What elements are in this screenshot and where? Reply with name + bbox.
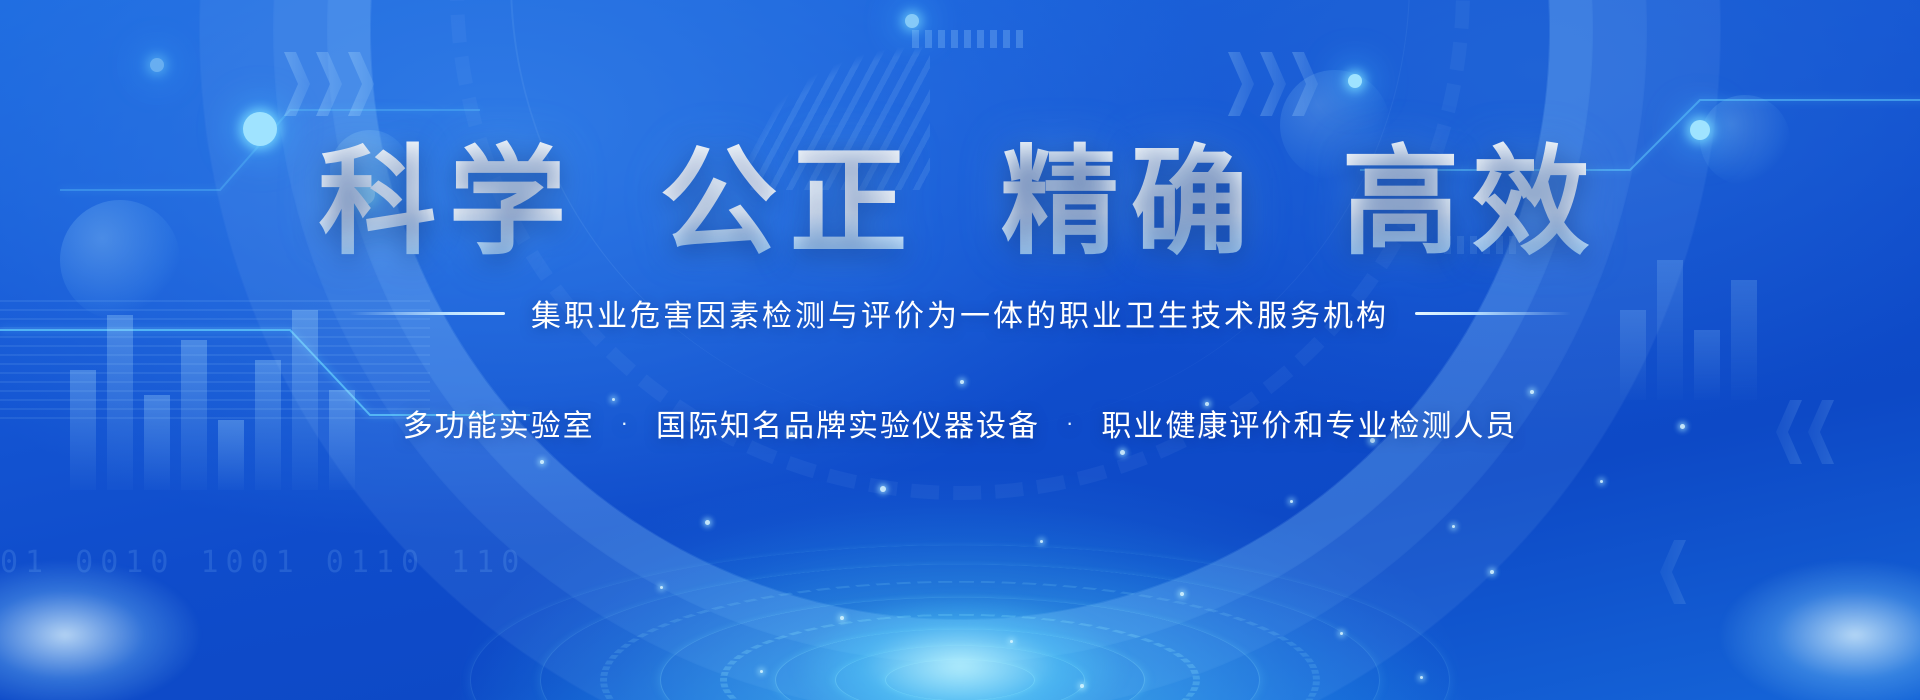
tagline-separator: ·	[1066, 410, 1075, 436]
hero-banner: 01 0010 1001 0110 1100	[0, 0, 1920, 700]
headline-word-1: 科学	[318, 140, 578, 265]
headline-word-2: 公正	[659, 140, 919, 265]
tagline-item-3: 职业健康评价和专业检测人员	[1101, 401, 1517, 445]
rule-left	[349, 312, 505, 315]
page-title: 科学 公正 精确 高效	[304, 140, 1615, 265]
headline-word-3: 精确	[1001, 140, 1261, 265]
feature-tagline: 多功能实验室 · 国际知名品牌实验仪器设备 · 职业健康评价和专业检测人员	[403, 401, 1518, 445]
subtitle-row: 集职业危害因素检测与评价为一体的职业卫生技术服务机构	[349, 291, 1571, 335]
tagline-separator: ·	[621, 410, 630, 436]
tagline-item-2: 国际知名品牌实验仪器设备	[656, 401, 1040, 445]
rule-right	[1415, 312, 1571, 315]
banner-content: 科学 公正 精确 高效 集职业危害因素检测与评价为一体的职业卫生技术服务机构 多…	[0, 0, 1920, 700]
headline-word-4: 高效	[1342, 140, 1602, 265]
tagline-item-1: 多功能实验室	[403, 401, 595, 445]
banner-subtitle: 集职业危害因素检测与评价为一体的职业卫生技术服务机构	[531, 291, 1389, 335]
